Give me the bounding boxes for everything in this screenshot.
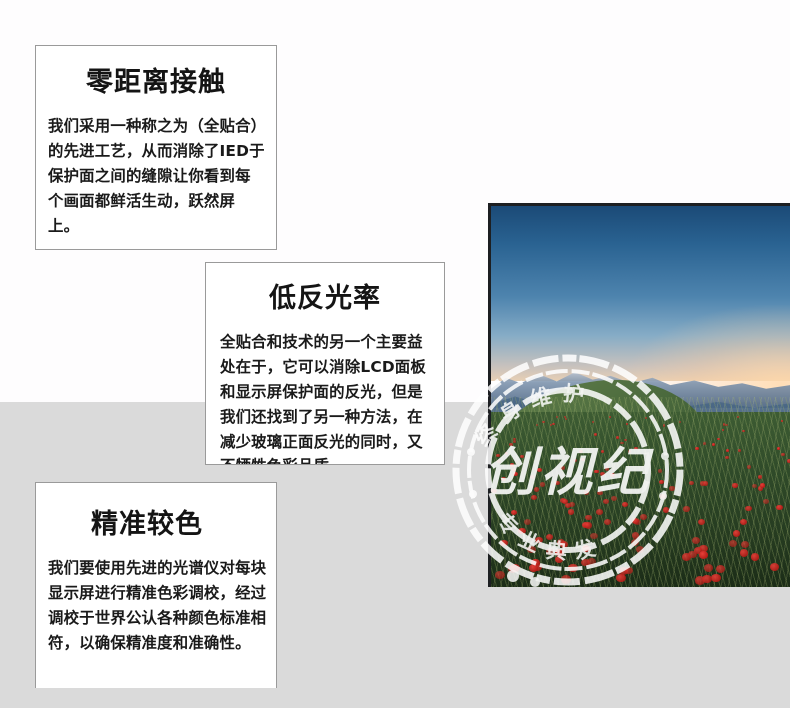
poppy-flower <box>758 475 763 479</box>
poppy-flower <box>653 419 655 421</box>
poppy-flower <box>513 472 518 476</box>
poppy-flower <box>597 491 603 496</box>
poppy-flower <box>683 506 689 511</box>
poppy-flower <box>751 553 760 560</box>
poppy-flower <box>624 439 627 442</box>
poppy-flower <box>603 499 609 504</box>
poppy-flower <box>582 545 590 552</box>
poppy-flower <box>594 470 599 474</box>
poppy-flower <box>628 450 632 453</box>
poppy-flower <box>497 460 501 464</box>
poppy-flower <box>737 416 739 418</box>
poppy-flower <box>752 484 757 489</box>
poppy-flower <box>555 549 563 556</box>
poppy-flower <box>552 423 554 425</box>
poppy-flower <box>747 465 751 469</box>
poppy-flower <box>537 468 542 472</box>
poppy-flower <box>616 574 626 582</box>
poppy-flower <box>663 424 665 426</box>
feature-card-zero-distance: 零距离接触 我们采用一种称之为（全贴合）的先进工艺，从而消除了IED于保护面之间… <box>35 45 277 250</box>
poppy-flower <box>604 519 611 525</box>
poppy-flower <box>560 541 568 548</box>
poppy-flower <box>513 440 516 443</box>
poppy-flower <box>510 564 519 572</box>
photo-poppy-flowers <box>491 416 790 587</box>
poppy-flower <box>689 481 694 485</box>
poppy-flower <box>496 454 500 457</box>
poppy-flower <box>587 558 596 566</box>
feature-card-body: 我们要使用先进的光谱仪对每块显示屏进行精准色彩调校，经过调校于世界公认各种颜色标… <box>48 556 270 656</box>
poppy-flower <box>527 546 535 553</box>
poppy-flower <box>616 436 619 439</box>
photo-canvas <box>491 206 790 587</box>
poppy-flower <box>626 423 628 425</box>
page-root: 终身维护 专业典发 创视纪 零距离接触 我们采用一种称之为（全贴合）的先进工艺，… <box>0 0 790 708</box>
poppy-flower <box>501 477 506 481</box>
poppy-flower <box>717 438 720 441</box>
poppy-flower <box>590 533 598 540</box>
poppy-flower <box>585 515 592 521</box>
poppy-flower <box>535 537 543 544</box>
poppy-flower <box>560 466 564 470</box>
poppy-flower <box>581 458 585 461</box>
poppy-flower <box>512 468 517 472</box>
poppy-flower <box>610 473 615 477</box>
poppy-flower <box>726 449 730 452</box>
poppy-flower <box>518 528 525 534</box>
poppy-flower <box>611 496 617 501</box>
poppy-flower <box>738 449 742 452</box>
feature-card-body: 我们采用一种称之为（全贴合）的先进工艺，从而消除了IED于保护面之间的缝隙让你看… <box>48 114 266 239</box>
poppy-flower <box>645 417 647 419</box>
poppy-flower <box>565 418 567 420</box>
poppy-flower <box>568 564 577 572</box>
poppy-flower <box>722 429 725 431</box>
poppy-flower <box>564 416 566 418</box>
poppy-flower <box>740 549 749 556</box>
poppy-flower <box>622 502 628 507</box>
poppy-flower <box>510 463 514 467</box>
poppy-flower <box>725 456 729 459</box>
poppy-flower <box>556 416 558 418</box>
poppy-flower <box>712 443 715 446</box>
poppy-flower <box>658 469 663 473</box>
poppy-flower <box>509 443 512 446</box>
poppy-flower <box>561 575 571 583</box>
poppy-flower <box>520 455 524 458</box>
poppy-flower <box>704 564 713 572</box>
poppy-flower <box>745 506 751 511</box>
poppy-flower <box>495 571 505 579</box>
poppy-flower <box>620 442 623 445</box>
poppy-flower <box>659 480 664 484</box>
poppy-flower <box>698 519 705 525</box>
poppy-flower <box>505 452 509 455</box>
feature-card-body: 全贴合和技术的另一个主要益处在于，它可以消除LCD面板和显示屏保护面的反光，但是… <box>220 330 434 465</box>
poppy-flower <box>640 514 647 520</box>
poppy-flower <box>695 447 699 450</box>
poppy-flower <box>592 421 594 423</box>
poppy-flower <box>732 483 737 487</box>
feature-card-low-reflection: 低反光率 全贴合和技术的另一个主要益处在于，它可以消除LCD面板和显示屏保护面的… <box>205 262 445 465</box>
poppy-flower <box>725 424 727 426</box>
poppy-flower <box>555 481 560 485</box>
poppy-flower <box>770 563 779 571</box>
poppy-flower <box>632 532 640 539</box>
poppy-flower <box>605 467 610 471</box>
poppy-flower <box>600 472 605 476</box>
poppy-flower <box>663 507 669 512</box>
poppy-flower <box>703 442 706 445</box>
poppy-flower <box>716 565 725 573</box>
poppy-flower <box>562 499 568 504</box>
poppy-flower <box>781 453 785 456</box>
poppy-flower <box>679 421 681 423</box>
feature-card-accurate-color: 精准较色 我们要使用先进的光谱仪对每块显示屏进行精准色彩调校，经过调校于世界公认… <box>35 482 277 689</box>
poppy-flower <box>682 553 691 560</box>
poppy-flower <box>530 475 535 479</box>
product-photo <box>488 203 790 587</box>
poppy-flower <box>776 505 782 510</box>
poppy-flower <box>542 421 544 423</box>
poppy-flower <box>763 499 769 504</box>
poppy-flower <box>760 483 765 487</box>
poppy-flower <box>513 438 516 441</box>
poppy-flower <box>729 540 737 547</box>
poppy-flower <box>636 546 644 553</box>
poppy-flower <box>632 518 639 524</box>
poppy-flower <box>711 574 721 582</box>
poppy-flower <box>669 486 674 491</box>
poppy-flower <box>741 541 749 548</box>
poppy-flower <box>660 494 666 499</box>
poppy-flower <box>524 519 531 525</box>
poppy-flower <box>624 567 633 575</box>
poppy-flower <box>692 537 700 544</box>
poppy-flower <box>634 447 638 450</box>
poppy-flower <box>531 495 537 500</box>
poppy-flower <box>534 487 539 492</box>
poppy-flower <box>777 447 781 450</box>
poppy-flower <box>584 490 590 495</box>
poppy-flower <box>703 481 708 485</box>
poppy-flower <box>596 509 603 515</box>
poppy-flower <box>733 530 741 536</box>
poppy-flower <box>594 433 597 435</box>
feature-card-title: 低反光率 <box>206 284 444 314</box>
poppy-flower <box>568 509 575 515</box>
poppy-flower <box>555 556 564 563</box>
poppy-flower <box>511 510 518 516</box>
poppy-flower <box>609 416 611 418</box>
poppy-flower <box>540 482 545 486</box>
poppy-flower <box>781 420 783 422</box>
poppy-flower <box>742 430 745 432</box>
poppy-flower <box>573 459 577 462</box>
poppy-flower <box>702 575 712 583</box>
poppy-flower <box>579 450 583 453</box>
poppy-flower <box>500 540 508 547</box>
feature-card-title: 零距离接触 <box>36 68 276 98</box>
feature-card-title: 精准较色 <box>35 510 276 540</box>
poppy-flower <box>546 534 554 541</box>
background-bottom-strip <box>0 688 790 708</box>
poppy-flower <box>740 519 747 525</box>
poppy-flower <box>536 424 538 426</box>
poppy-flower <box>546 548 554 555</box>
poppy-flower <box>491 489 497 494</box>
poppy-flower <box>601 450 605 453</box>
poppy-flower <box>699 551 708 558</box>
